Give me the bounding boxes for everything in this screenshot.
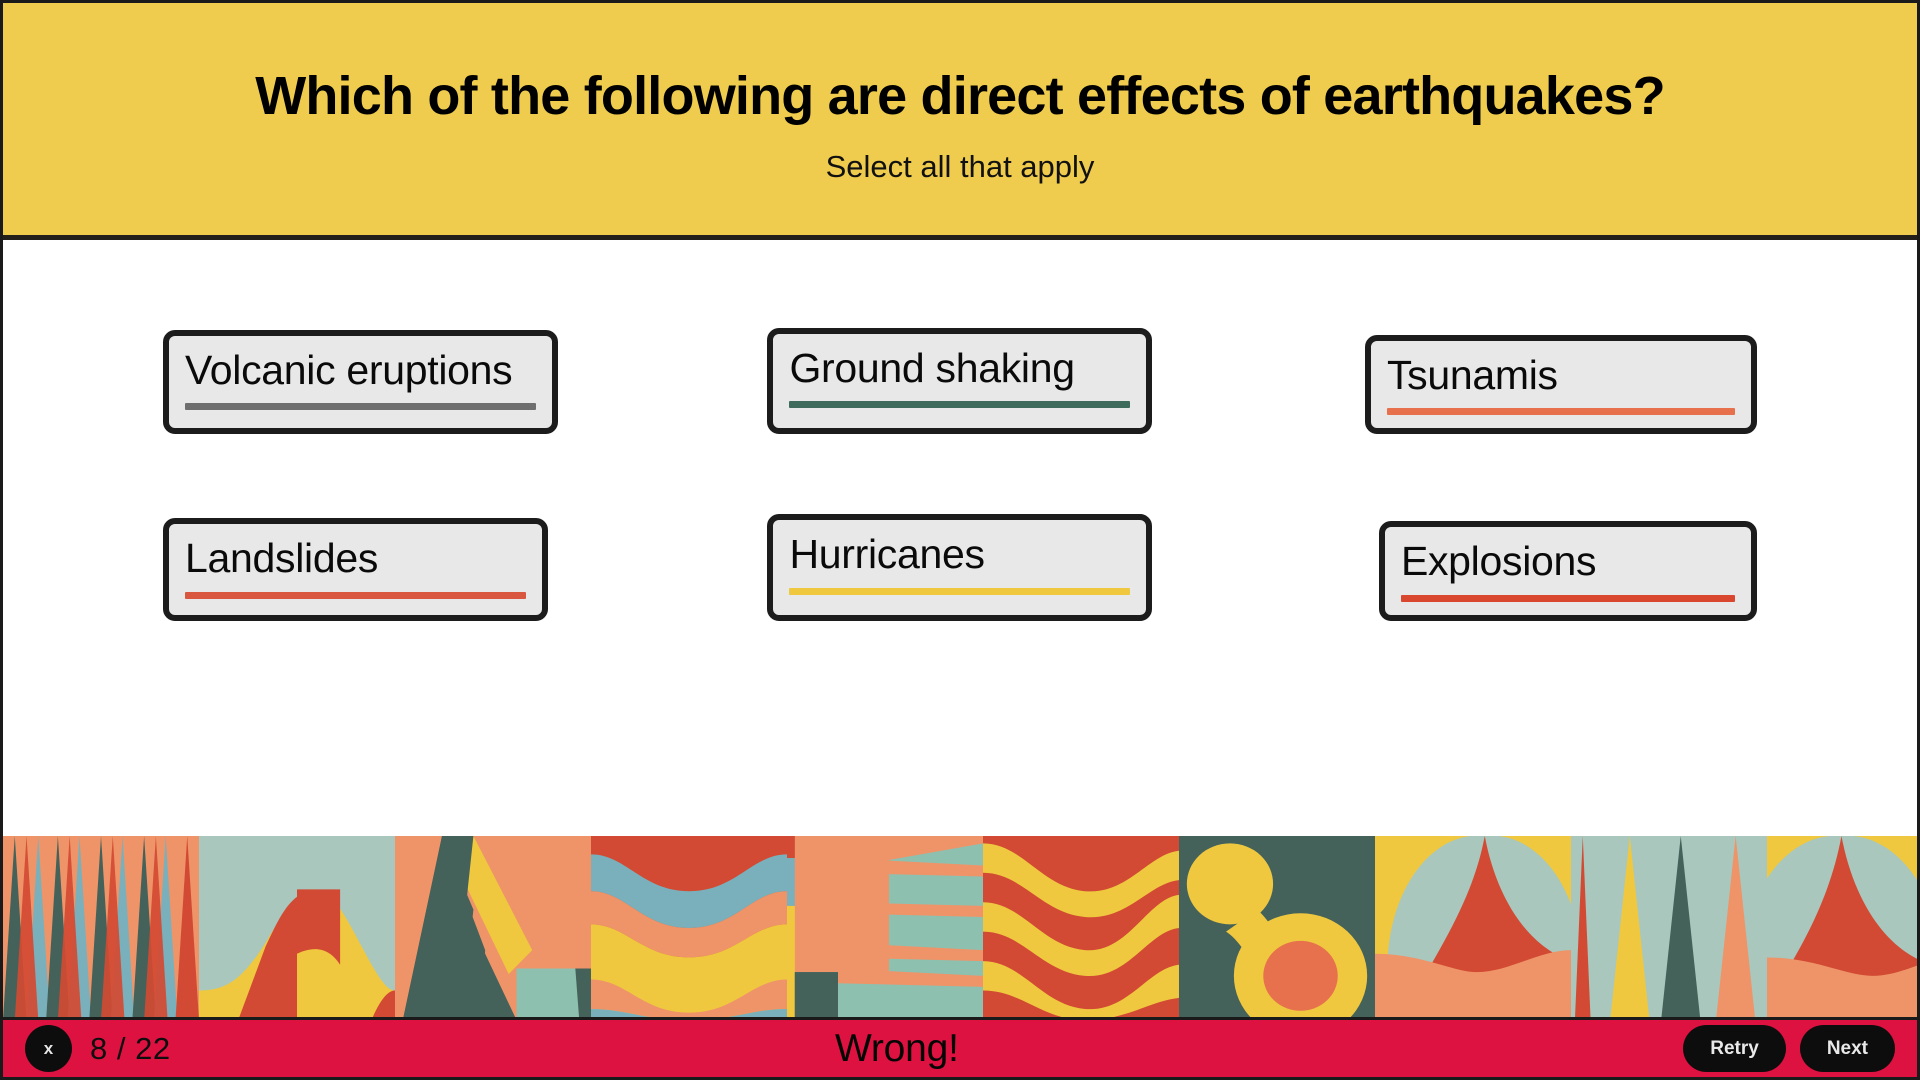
- option-underline: [789, 588, 1130, 595]
- pattern-tile-arches-2: [1767, 836, 1917, 1020]
- close-icon[interactable]: x: [25, 1025, 72, 1072]
- quiz-screen: Which of the following are direct effect…: [0, 0, 1920, 1080]
- retry-button[interactable]: Retry: [1683, 1025, 1786, 1072]
- question-title: Which of the following are direct effect…: [255, 67, 1665, 126]
- option-label: Explosions: [1401, 537, 1735, 585]
- pattern-tile-arches: [1375, 836, 1571, 1020]
- option-underline: [1387, 408, 1735, 415]
- pattern-tile-spikes-2: [1571, 836, 1767, 1020]
- pattern-tile-tree: [395, 836, 591, 1020]
- option-ground-shaking[interactable]: Ground shaking: [767, 328, 1152, 434]
- option-slot-6: Explosions: [1226, 518, 1757, 620]
- options-row-2: Landslides Hurricanes Explosions: [163, 518, 1757, 620]
- option-landslides[interactable]: Landslides: [163, 518, 548, 620]
- option-hurricanes[interactable]: Hurricanes: [767, 514, 1152, 620]
- option-slot-4: Landslides: [163, 518, 694, 620]
- option-slot-2: Ground shaking: [694, 330, 1225, 434]
- option-underline: [185, 403, 536, 410]
- option-label: Tsunamis: [1387, 351, 1735, 399]
- pattern-tile-stripes: [983, 836, 1179, 1020]
- option-label: Hurricanes: [789, 530, 1130, 578]
- decorative-pattern-strip: [3, 836, 1917, 1020]
- next-button[interactable]: Next: [1800, 1025, 1895, 1072]
- option-underline: [185, 592, 526, 599]
- option-label: Landslides: [185, 534, 526, 582]
- options-row-1: Volcanic eruptions Ground shaking Tsunam…: [163, 330, 1757, 434]
- option-label: Volcanic eruptions: [185, 346, 536, 394]
- option-underline: [1401, 595, 1735, 602]
- pattern-tile-rays: [787, 836, 983, 1020]
- option-tsunamis[interactable]: Tsunamis: [1365, 335, 1757, 434]
- option-slot-1: Volcanic eruptions: [163, 330, 694, 434]
- bottom-bar: x 8 / 22 Wrong! Retry Next: [3, 1017, 1917, 1080]
- pattern-tile-waves: [591, 836, 787, 1020]
- question-instruction: Select all that apply: [826, 149, 1095, 185]
- option-explosions[interactable]: Explosions: [1379, 521, 1757, 620]
- option-slot-5: Hurricanes: [694, 518, 1225, 620]
- options-area: Volcanic eruptions Ground shaking Tsunam…: [3, 240, 1917, 836]
- option-label: Ground shaking: [789, 344, 1130, 392]
- feedback-message: Wrong!: [835, 1027, 959, 1071]
- pattern-tile-spikes: [3, 836, 199, 1020]
- option-volcanic-eruptions[interactable]: Volcanic eruptions: [163, 330, 558, 434]
- bottom-bar-center: Wrong!: [111, 1027, 1684, 1071]
- pattern-tile-circles: [1179, 836, 1375, 1020]
- pattern-tile-hill: [199, 836, 395, 1020]
- bottom-bar-right: Retry Next: [1683, 1025, 1895, 1072]
- question-header: Which of the following are direct effect…: [3, 3, 1917, 240]
- option-slot-3: Tsunamis: [1226, 330, 1757, 434]
- option-underline: [789, 401, 1130, 408]
